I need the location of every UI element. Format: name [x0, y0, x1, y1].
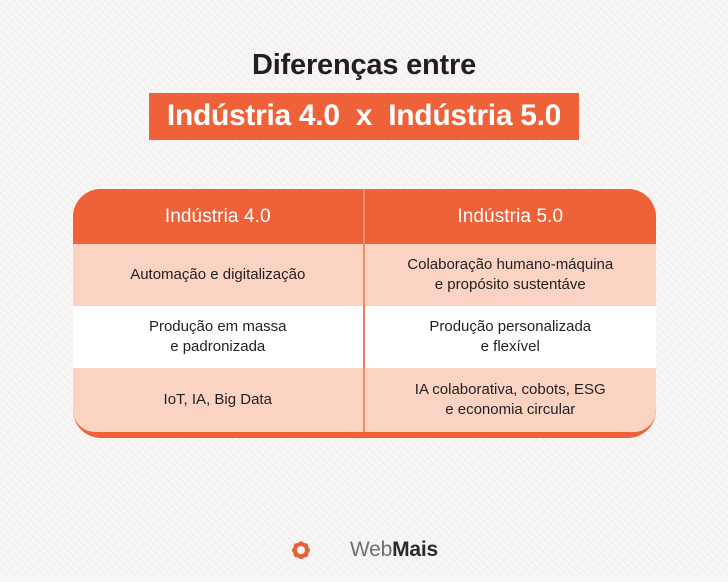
table-row: Automação e digitalização Colaboração hu…: [73, 244, 656, 306]
logo-web-text: Web: [350, 538, 392, 561]
cell-r1-c0: Produção em massae padronizada: [73, 306, 365, 368]
cell-r0-c0: Automação e digitalização: [73, 244, 365, 306]
cell-r2-c1: IA colaborativa, cobots, ESGe economia c…: [365, 368, 657, 432]
banner-title-text: Indústria 4.0 x Indústria 5.0: [167, 100, 561, 132]
table-row: Produção em massae padronizada Produção …: [73, 306, 656, 368]
column-header-industria-5: Indústria 5.0: [365, 189, 657, 244]
page-title: Diferenças entre: [0, 50, 728, 82]
webmais-logo: WebMais: [0, 518, 728, 581]
logo-mais-text: Mais: [392, 538, 438, 561]
title-block: Diferenças entre Indústria 4.0 x Indústr…: [0, 50, 728, 140]
comparison-table: Indústria 4.0 Indústria 5.0 Automação e …: [73, 189, 656, 438]
column-header-industria-4: Indústria 4.0: [73, 189, 365, 244]
cell-r2-c0: IoT, IA, Big Data: [73, 368, 365, 432]
webmais-flower-icon: [290, 539, 312, 561]
table-row: IoT, IA, Big Data IA colaborativa, cobot…: [73, 368, 656, 432]
infographic-page: Diferenças entre Indústria 4.0 x Indústr…: [0, 0, 728, 575]
cell-r1-c1: Produção personalizadae flexível: [365, 306, 657, 368]
cell-r0-c1: Colaboração humano-máquinae propósito su…: [365, 244, 657, 306]
table-header-row: Indústria 4.0 Indústria 5.0: [73, 189, 656, 244]
comparison-table-inner: Indústria 4.0 Indústria 5.0 Automação e …: [73, 189, 656, 432]
logo-wordmark: WebMais: [316, 518, 438, 581]
title-banner: Indústria 4.0 x Indústria 5.0: [149, 93, 579, 141]
